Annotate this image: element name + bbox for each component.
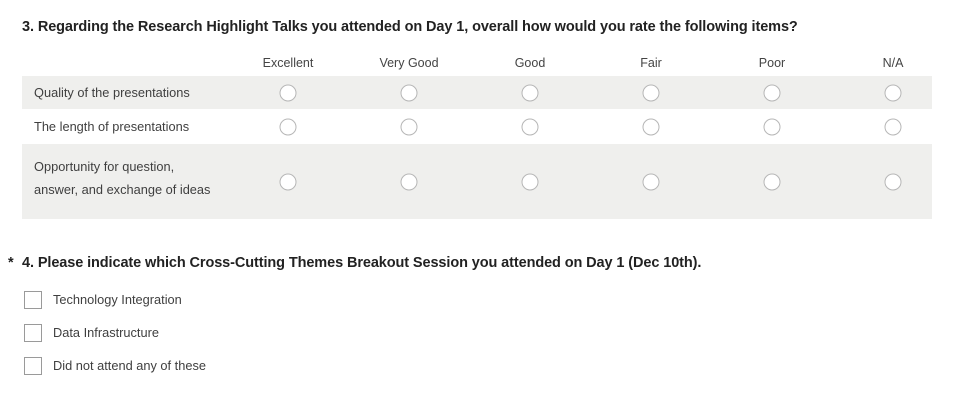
radio-length-good[interactable] — [522, 119, 539, 136]
radio-quality-excellent[interactable] — [280, 85, 297, 102]
radio-opportunity-fair[interactable] — [643, 174, 660, 191]
radio-quality-good[interactable] — [522, 85, 539, 102]
table-row: Opportunity for question, answer, and ex… — [22, 144, 932, 219]
radio-opportunity-very-good[interactable] — [401, 174, 418, 191]
table-row: Quality of the presentations — [22, 76, 932, 109]
choice-label-data-infrastructure: Data Infrastructure — [53, 324, 159, 342]
column-header-fair: Fair — [640, 56, 662, 70]
column-header-na: N/A — [883, 56, 904, 70]
column-header-very-good: Very Good — [379, 56, 438, 70]
radio-opportunity-na[interactable] — [885, 174, 902, 191]
choice-label-technology-integration: Technology Integration — [53, 291, 182, 309]
radio-length-excellent[interactable] — [280, 119, 297, 136]
column-header-poor: Poor — [759, 56, 785, 70]
table-row: The length of presentations — [22, 109, 932, 144]
question-3-title: 3. Regarding the Research Highlight Talk… — [22, 19, 798, 35]
radio-opportunity-good[interactable] — [522, 174, 539, 191]
column-header-excellent: Excellent — [263, 56, 314, 70]
rating-matrix: Excellent Very Good Good Fair Poor N/A Q… — [22, 56, 932, 219]
question-4-title: 4. Please indicate which Cross-Cutting T… — [22, 255, 701, 271]
checkbox-technology-integration[interactable] — [24, 291, 42, 309]
required-asterisk: * — [8, 255, 14, 271]
radio-length-very-good[interactable] — [401, 119, 418, 136]
radio-length-na[interactable] — [885, 119, 902, 136]
row-radio-group — [22, 76, 932, 109]
radio-quality-fair[interactable] — [643, 85, 660, 102]
radio-length-fair[interactable] — [643, 119, 660, 136]
radio-quality-na[interactable] — [885, 85, 902, 102]
radio-opportunity-poor[interactable] — [764, 174, 781, 191]
row-radio-group — [22, 144, 932, 219]
matrix-column-headers: Excellent Very Good Good Fair Poor N/A — [22, 56, 932, 76]
radio-quality-very-good[interactable] — [401, 85, 418, 102]
row-radio-group — [22, 109, 932, 144]
radio-opportunity-excellent[interactable] — [280, 174, 297, 191]
choice-label-did-not-attend: Did not attend any of these — [53, 357, 206, 375]
radio-length-poor[interactable] — [764, 119, 781, 136]
checkbox-data-infrastructure[interactable] — [24, 324, 42, 342]
column-header-good: Good — [515, 56, 546, 70]
checkbox-did-not-attend[interactable] — [24, 357, 42, 375]
radio-quality-poor[interactable] — [764, 85, 781, 102]
